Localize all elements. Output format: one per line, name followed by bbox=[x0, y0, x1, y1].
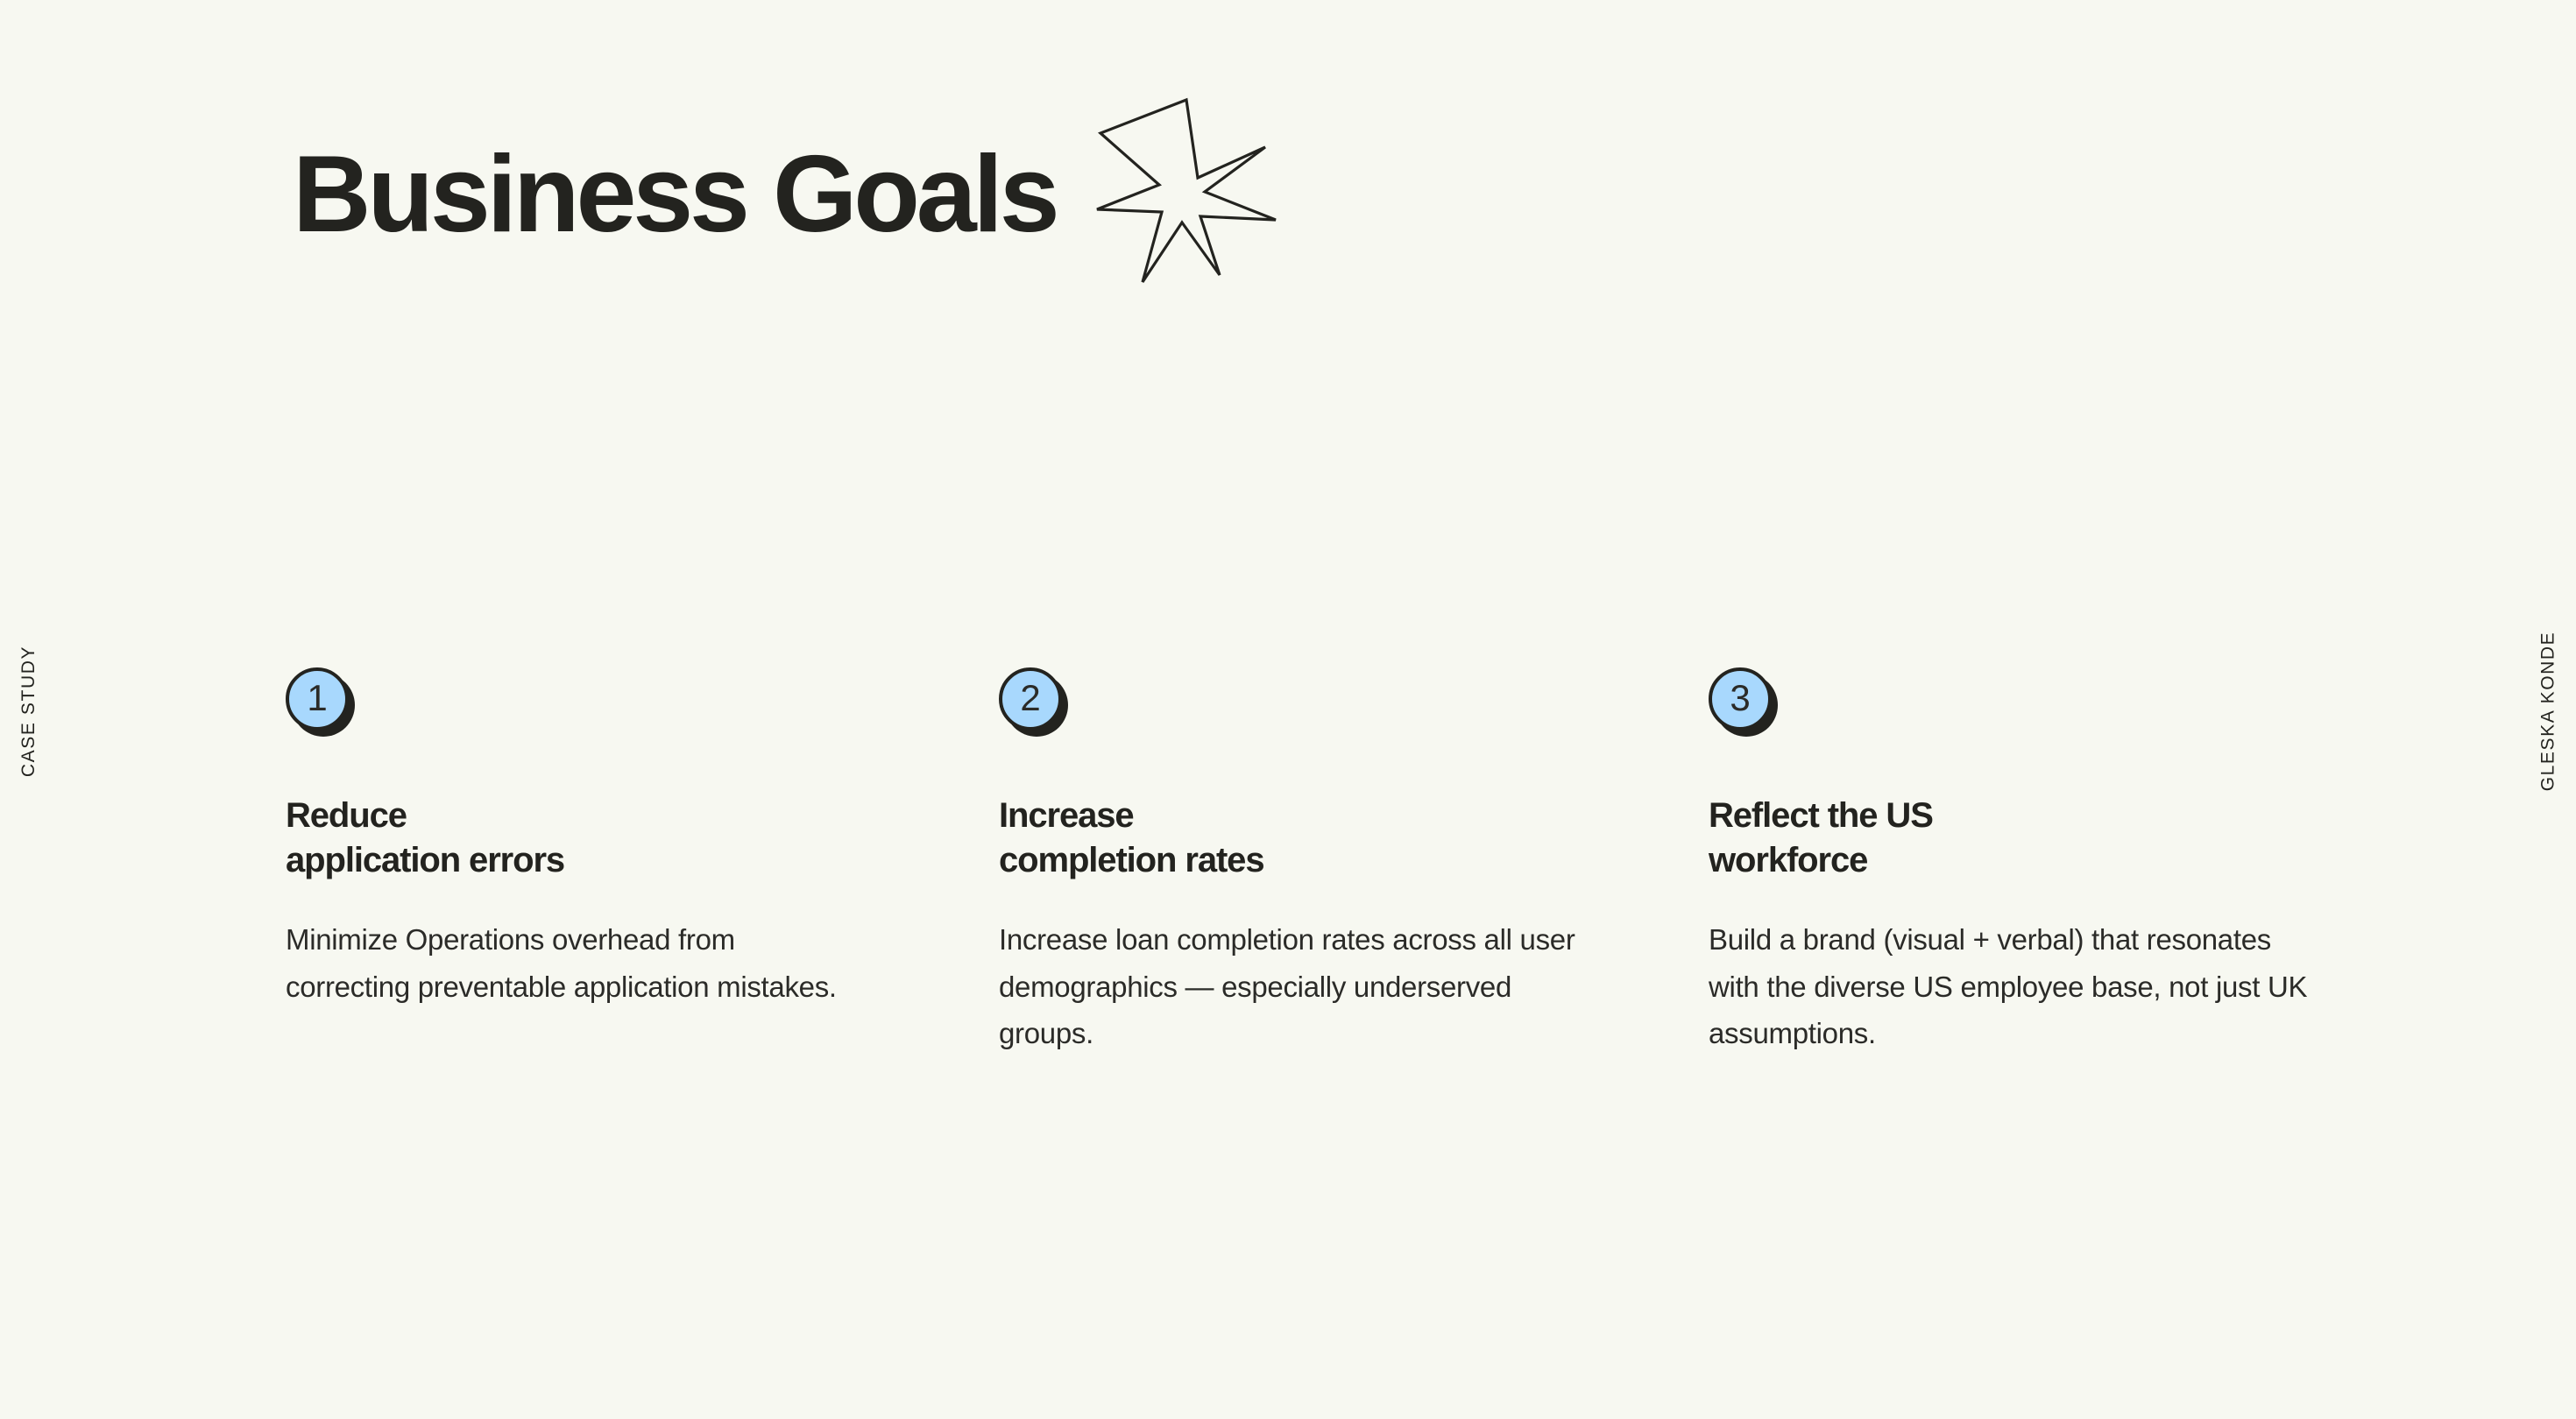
goal-item: 1 Reduce application errors Minimize Ope… bbox=[286, 667, 995, 1057]
goal-item: 2 Increase completion rates Increase loa… bbox=[999, 667, 1709, 1057]
goal-number-badge: 1 bbox=[286, 667, 349, 731]
goal-number-badge: 3 bbox=[1709, 667, 1772, 731]
badge-face: 1 bbox=[286, 667, 349, 731]
badge-number: 3 bbox=[1730, 680, 1750, 717]
goal-description: Build a brand (visual + verbal) that res… bbox=[1709, 916, 2322, 1056]
page-title: Business Goals bbox=[293, 140, 1057, 249]
goal-description: Minimize Operations overhead from correc… bbox=[286, 916, 846, 1010]
goal-number-badge: 2 bbox=[999, 667, 1062, 731]
badge-face: 2 bbox=[999, 667, 1062, 731]
goals-list: 1 Reduce application errors Minimize Ope… bbox=[286, 667, 2301, 1057]
goal-title: Reduce application errors bbox=[286, 794, 846, 883]
badge-face: 3 bbox=[1709, 667, 1772, 731]
badge-number: 1 bbox=[307, 680, 327, 717]
goal-description: Increase loan completion rates across al… bbox=[999, 916, 1595, 1056]
goal-title: Increase completion rates bbox=[999, 794, 1595, 883]
brand-side-label: GLESKA KONDE bbox=[2538, 632, 2559, 792]
goal-item: 3 Reflect the US workforce Build a brand… bbox=[1709, 667, 2418, 1057]
badge-number: 2 bbox=[1020, 680, 1040, 717]
slide-canvas: CASE STUDY GLESKA KONDE Business Goals 1… bbox=[0, 0, 2576, 1419]
goal-title: Reflect the US workforce bbox=[1709, 794, 2322, 883]
sparkle-star-icon bbox=[1090, 93, 1283, 291]
title-row: Business Goals bbox=[293, 98, 1283, 291]
case-study-side-label: CASE STUDY bbox=[18, 646, 39, 777]
